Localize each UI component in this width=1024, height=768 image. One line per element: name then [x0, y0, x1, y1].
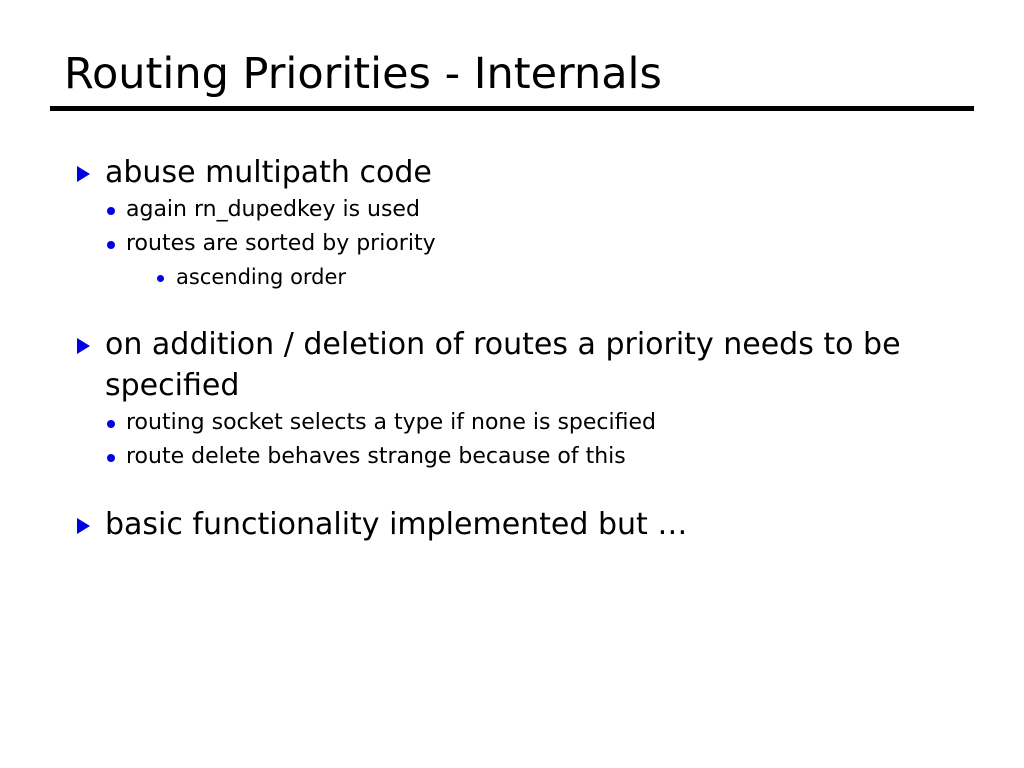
bullet-level2-label: routing socket selects a type if none is… — [126, 410, 656, 435]
triangle-bullet-icon — [77, 166, 90, 182]
bullet-content: abuse multipath code again rn_dupedkey i… — [0, 152, 1024, 545]
bullet-group: abuse multipath code again rn_dupedkey i… — [0, 152, 1024, 294]
dot-bullet-icon — [157, 275, 164, 282]
bullet-level1: basic functionality implemented but … — [0, 504, 1024, 545]
triangle-bullet-icon — [77, 338, 90, 354]
bullet-level1: on addition / deletion of routes a prior… — [0, 324, 1024, 406]
dot-bullet-icon — [107, 454, 115, 462]
bullet-level1: abuse multipath code — [0, 152, 1024, 193]
dot-bullet-icon — [107, 207, 115, 215]
triangle-bullet-icon — [77, 518, 90, 534]
bullet-level2-label: routes are sorted by priority — [126, 231, 436, 256]
bullet-level2: again rn_dupedkey is used — [0, 193, 1024, 227]
bullet-level2: route delete behaves strange because of … — [0, 440, 1024, 474]
bullet-level1-label: on addition / deletion of routes a prior… — [105, 327, 901, 403]
bullet-level2: routing socket selects a type if none is… — [0, 406, 1024, 440]
bullet-level3: ascending order — [0, 261, 1024, 294]
bullet-level1-label: basic functionality implemented but … — [105, 507, 687, 542]
bullet-level2-label: again rn_dupedkey is used — [126, 197, 420, 222]
bullet-level1-label: abuse multipath code — [105, 155, 432, 190]
bullet-group: basic functionality implemented but … — [0, 504, 1024, 545]
page-title: Routing Priorities - Internals — [50, 50, 974, 99]
dot-bullet-icon — [107, 241, 115, 249]
title-underline-rule — [50, 106, 974, 111]
dot-bullet-icon — [107, 420, 115, 428]
bullet-level2-label: route delete behaves strange because of … — [126, 444, 626, 469]
bullet-level3-label: ascending order — [176, 265, 346, 289]
slide: Routing Priorities - Internals abuse mul… — [0, 0, 1024, 768]
bullet-group: on addition / deletion of routes a prior… — [0, 324, 1024, 474]
bullet-level2: routes are sorted by priority — [0, 227, 1024, 261]
title-block: Routing Priorities - Internals — [50, 50, 974, 111]
